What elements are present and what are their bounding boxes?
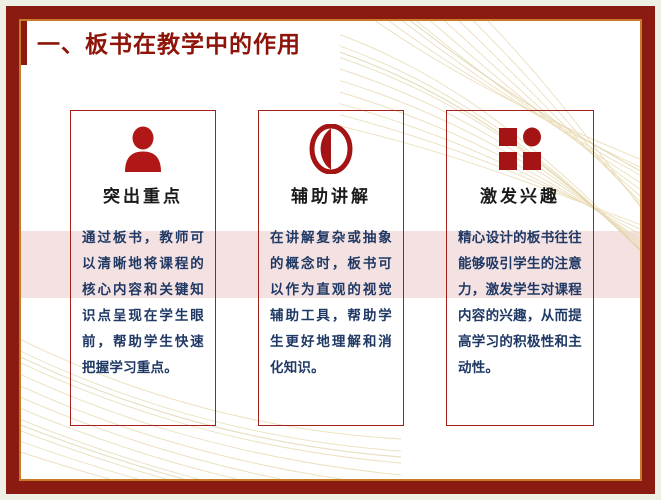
card-body: 精心设计的板书往往能够吸引学生的注意力，激发学生对课程内容的兴趣，从而提高学习的… — [447, 225, 593, 381]
card-group: 突出重点 通过板书，教师可以清晰地将课程的核心内容和关键知识点呈现在学生眼前，帮… — [21, 21, 640, 479]
card-heading: 激发兴趣 — [480, 182, 560, 207]
card-heading: 辅助讲解 — [291, 182, 371, 207]
four-blocks-icon — [498, 124, 542, 174]
feature-card-2[interactable]: 辅助讲解 在讲解复杂或抽象的概念时，板书可以作为直观的视觉辅助工具，帮助学生更好… — [258, 110, 404, 426]
card-body: 在讲解复杂或抽象的概念时，板书可以作为直观的视觉辅助工具，帮助学生更好地理解和消… — [259, 225, 403, 381]
card-heading: 突出重点 — [103, 182, 183, 207]
feature-card-1[interactable]: 突出重点 通过板书，教师可以清晰地将课程的核心内容和关键知识点呈现在学生眼前，帮… — [70, 110, 216, 426]
feature-card-3[interactable]: 激发兴趣 精心设计的板书往往能够吸引学生的注意力，激发学生对课程内容的兴趣，从而… — [446, 110, 594, 426]
slide-canvas: 一、板书在教学中的作用 突出重点 通过板书，教师可以清晰地将课程的核心内容和关键… — [0, 0, 661, 500]
half-circle-contrast-icon — [309, 124, 353, 174]
card-body: 通过板书，教师可以清晰地将课程的核心内容和关键知识点呈现在学生眼前，帮助学生快速… — [71, 225, 215, 381]
person-icon — [122, 124, 164, 174]
slide-content-area: 一、板书在教学中的作用 突出重点 通过板书，教师可以清晰地将课程的核心内容和关键… — [21, 21, 640, 479]
